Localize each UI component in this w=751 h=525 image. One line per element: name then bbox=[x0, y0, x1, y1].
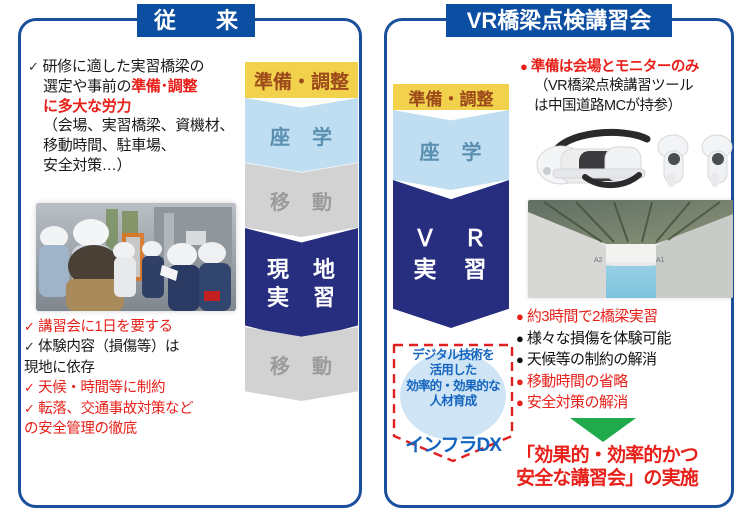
list-item-cont: の安全管理の徹底 bbox=[24, 420, 242, 439]
infographic-stage: 従 来 ✓ 研修に適した実習橋梁の 選定や事前の準備･調整 に多大な労力 （会場… bbox=[0, 0, 751, 525]
vr-intro-line-3: は中国道路MCが持参） bbox=[534, 98, 682, 114]
flow-step-prep: 準備・調整 bbox=[245, 62, 358, 98]
list-item-label: 講習会に1日を要する bbox=[38, 319, 173, 335]
conventional-intro-bullet: ✓ 研修に適した実習橋梁の 選定や事前の準備･調整 に多大な労力 （会場、実習橋… bbox=[28, 57, 255, 176]
list-item: ● 約3時間で2橋梁実習 bbox=[516, 307, 744, 327]
list-item: ● 様々な損傷を体験可能 bbox=[516, 329, 744, 349]
bullet-dot-icon: ● bbox=[516, 309, 523, 324]
conclusion-line-2: 安全な講習会」の実施 bbox=[516, 468, 698, 489]
dx-line-4: 人材育成 bbox=[430, 394, 477, 408]
dx-description: デジタル技術を 活用した 効率的・効果的な 人材育成 bbox=[391, 348, 515, 409]
conventional-flow-column: 準備・調整 座 学 移 動 現 地 実 習 移 動 bbox=[245, 62, 358, 401]
down-arrow-icon bbox=[570, 418, 636, 442]
bullet-dot-icon: ● bbox=[520, 59, 527, 74]
list-item: ● 安全対策の解消 bbox=[516, 393, 744, 413]
dx-line-3: 効率的・効果的な bbox=[406, 379, 500, 393]
check-icon: ✓ bbox=[24, 401, 35, 416]
list-item-label: 安全対策の解消 bbox=[527, 394, 628, 411]
panel-conventional-title: 従 来 bbox=[137, 4, 255, 37]
dx-headline: インフラDX bbox=[391, 430, 515, 457]
conventional-issue-list: ✓ 講習会に1日を要する ✓ 体験内容（損傷等）は 現地に依存 ✓ 天候・時間等… bbox=[24, 318, 242, 441]
list-item: ✓ 体験内容（損傷等）は bbox=[24, 338, 242, 357]
list-item: ✓ 講習会に1日を要する bbox=[24, 318, 242, 337]
training-site-photo bbox=[36, 203, 236, 311]
list-item-label: 移動時間の省略 bbox=[527, 373, 628, 390]
vr-flow-column: 準備・調整 座 学 Ｖ Ｒ 実 習 bbox=[393, 84, 509, 328]
flow-step-lecture: 座 学 bbox=[393, 110, 509, 190]
vr-intro-line-2: （VR橋梁点検講習ツール bbox=[534, 78, 693, 94]
panel-vr-training-title: VR橋梁点検講習会 bbox=[446, 4, 672, 37]
list-item-label: 体験内容（損傷等）は bbox=[38, 339, 179, 355]
vr-bridge-underside-render: A2 A1 bbox=[528, 200, 733, 298]
check-icon: ✓ bbox=[28, 59, 39, 74]
dx-line-2: 活用した bbox=[430, 363, 477, 377]
list-item-label: 様々な損傷を体験可能 bbox=[527, 330, 671, 347]
list-item-label: 転落、交通事故対策など bbox=[38, 401, 193, 417]
list-item-label: 天候・時間等に制約 bbox=[38, 380, 165, 396]
check-icon: ✓ bbox=[24, 339, 35, 354]
vr-intro-line-1: 準備は会場とモニターのみ bbox=[531, 59, 699, 75]
flow-step-travel-2: 移 動 bbox=[245, 327, 358, 401]
list-item-label: 現地に依存 bbox=[24, 360, 95, 376]
intro-line-6: 安全対策…） bbox=[43, 157, 131, 174]
bullet-dot-icon: ● bbox=[516, 331, 523, 346]
flow-step-vr-practice: Ｖ Ｒ 実 習 bbox=[393, 180, 509, 328]
flow-step-lecture: 座 学 bbox=[245, 98, 358, 172]
vr-conclusion-text: 「効果的・効率的かつ 安全な講習会」の実施 bbox=[516, 444, 742, 490]
bullet-dot-icon: ● bbox=[516, 395, 523, 410]
list-item: ● 移動時間の省略 bbox=[516, 372, 744, 392]
list-item-label: 約3時間で2橋梁実習 bbox=[527, 308, 658, 325]
svg-text:A1: A1 bbox=[656, 257, 665, 264]
infra-dx-callout: デジタル技術を 活用した 効率的・効果的な 人材育成 インフラDX bbox=[391, 342, 515, 464]
list-item: ● 天候等の制約の解消 bbox=[516, 350, 744, 370]
bullet-dot-icon: ● bbox=[516, 352, 523, 367]
intro-line-5: 移動時間、駐車場、 bbox=[43, 137, 175, 154]
flow-step-travel-1: 移 動 bbox=[245, 163, 358, 237]
svg-text:A2: A2 bbox=[594, 257, 603, 264]
list-item: ✓ 天候・時間等に制約 bbox=[24, 379, 242, 398]
flow-step-prep: 準備・調整 bbox=[393, 84, 509, 110]
intro-line-3: に多大な労力 bbox=[43, 98, 131, 115]
list-item-label: の安全管理の徹底 bbox=[24, 421, 137, 437]
vr-intro-bullet: ● 準備は会場とモニターのみ （VR橋梁点検講習ツール は中国道路MCが持参） bbox=[520, 58, 750, 116]
vr-headset-and-controllers bbox=[527, 125, 739, 190]
check-icon: ✓ bbox=[24, 319, 35, 334]
check-icon: ✓ bbox=[24, 380, 35, 395]
intro-line-1: 研修に適した実習橋梁の bbox=[42, 58, 204, 75]
intro-line-2a: 選定や事前の bbox=[43, 78, 131, 95]
vr-benefit-list: ● 約3時間で2橋梁実習 ● 様々な損傷を体験可能 ● 天候等の制約の解消 ● … bbox=[516, 307, 744, 415]
list-item-label: 天候等の制約の解消 bbox=[527, 351, 657, 368]
list-item-cont: 現地に依存 bbox=[24, 359, 242, 378]
flow-step-onsite-practice: 現 地 実 習 bbox=[245, 228, 358, 340]
dx-line-1: デジタル技術を bbox=[412, 348, 494, 362]
conclusion-line-1: 「効果的・効率的かつ bbox=[516, 445, 698, 466]
intro-line-2b: 準備･調整 bbox=[131, 78, 197, 95]
intro-line-4: （会場、実習橋梁、資機材、 bbox=[43, 117, 234, 134]
bullet-dot-icon: ● bbox=[516, 374, 523, 389]
list-item: ✓ 転落、交通事故対策など bbox=[24, 400, 242, 419]
